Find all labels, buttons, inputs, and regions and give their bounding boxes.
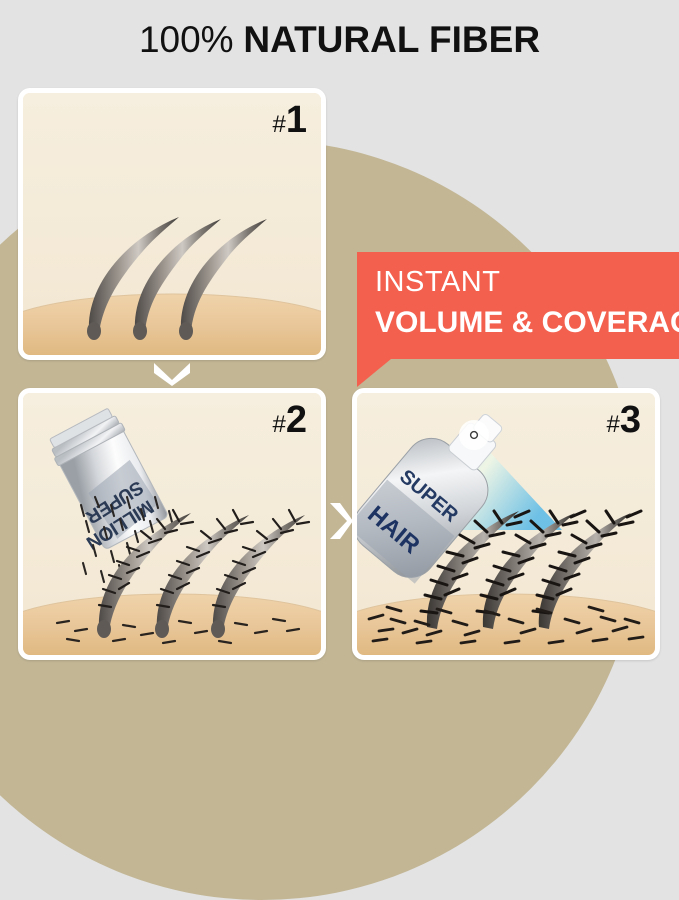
- panel-2-hash: #: [273, 411, 286, 438]
- callout-banner-text: INSTANT VOLUME & COVERAGE: [375, 268, 679, 338]
- panel-1-hash: #: [273, 111, 286, 138]
- panel-1-number: #1: [273, 101, 308, 139]
- panel-2-number: #2: [273, 401, 308, 439]
- callout-line-volume-coverage: VOLUME & COVERAGE: [375, 308, 679, 338]
- callout-banner: INSTANT VOLUME & COVERAGE: [357, 252, 679, 359]
- step-panel-1: #1: [18, 88, 326, 360]
- step-panel-1-inner: #1: [23, 93, 321, 355]
- page-title: 100% NATURAL FIBER: [0, 20, 679, 60]
- panel-2-digit: 2: [286, 399, 307, 441]
- step-panel-3-inner: SUPER HAIR: [357, 393, 655, 655]
- panel-3-hash: #: [607, 411, 620, 438]
- panel-1-digit: 1: [286, 99, 307, 141]
- panel-3-number: #3: [607, 401, 642, 439]
- page-title-main: NATURAL FIBER: [243, 19, 540, 60]
- chevron-down-icon: [151, 360, 193, 386]
- step-panel-2-inner: SUPER MILLION: [23, 393, 321, 655]
- panel-3-digit: 3: [620, 399, 641, 441]
- callout-line-instant: INSTANT: [375, 268, 679, 297]
- page-title-percent: 100%: [139, 19, 234, 60]
- step-panel-3: SUPER HAIR: [352, 388, 660, 660]
- chevron-right-icon: [327, 500, 353, 542]
- step-panel-2: SUPER MILLION: [18, 388, 326, 660]
